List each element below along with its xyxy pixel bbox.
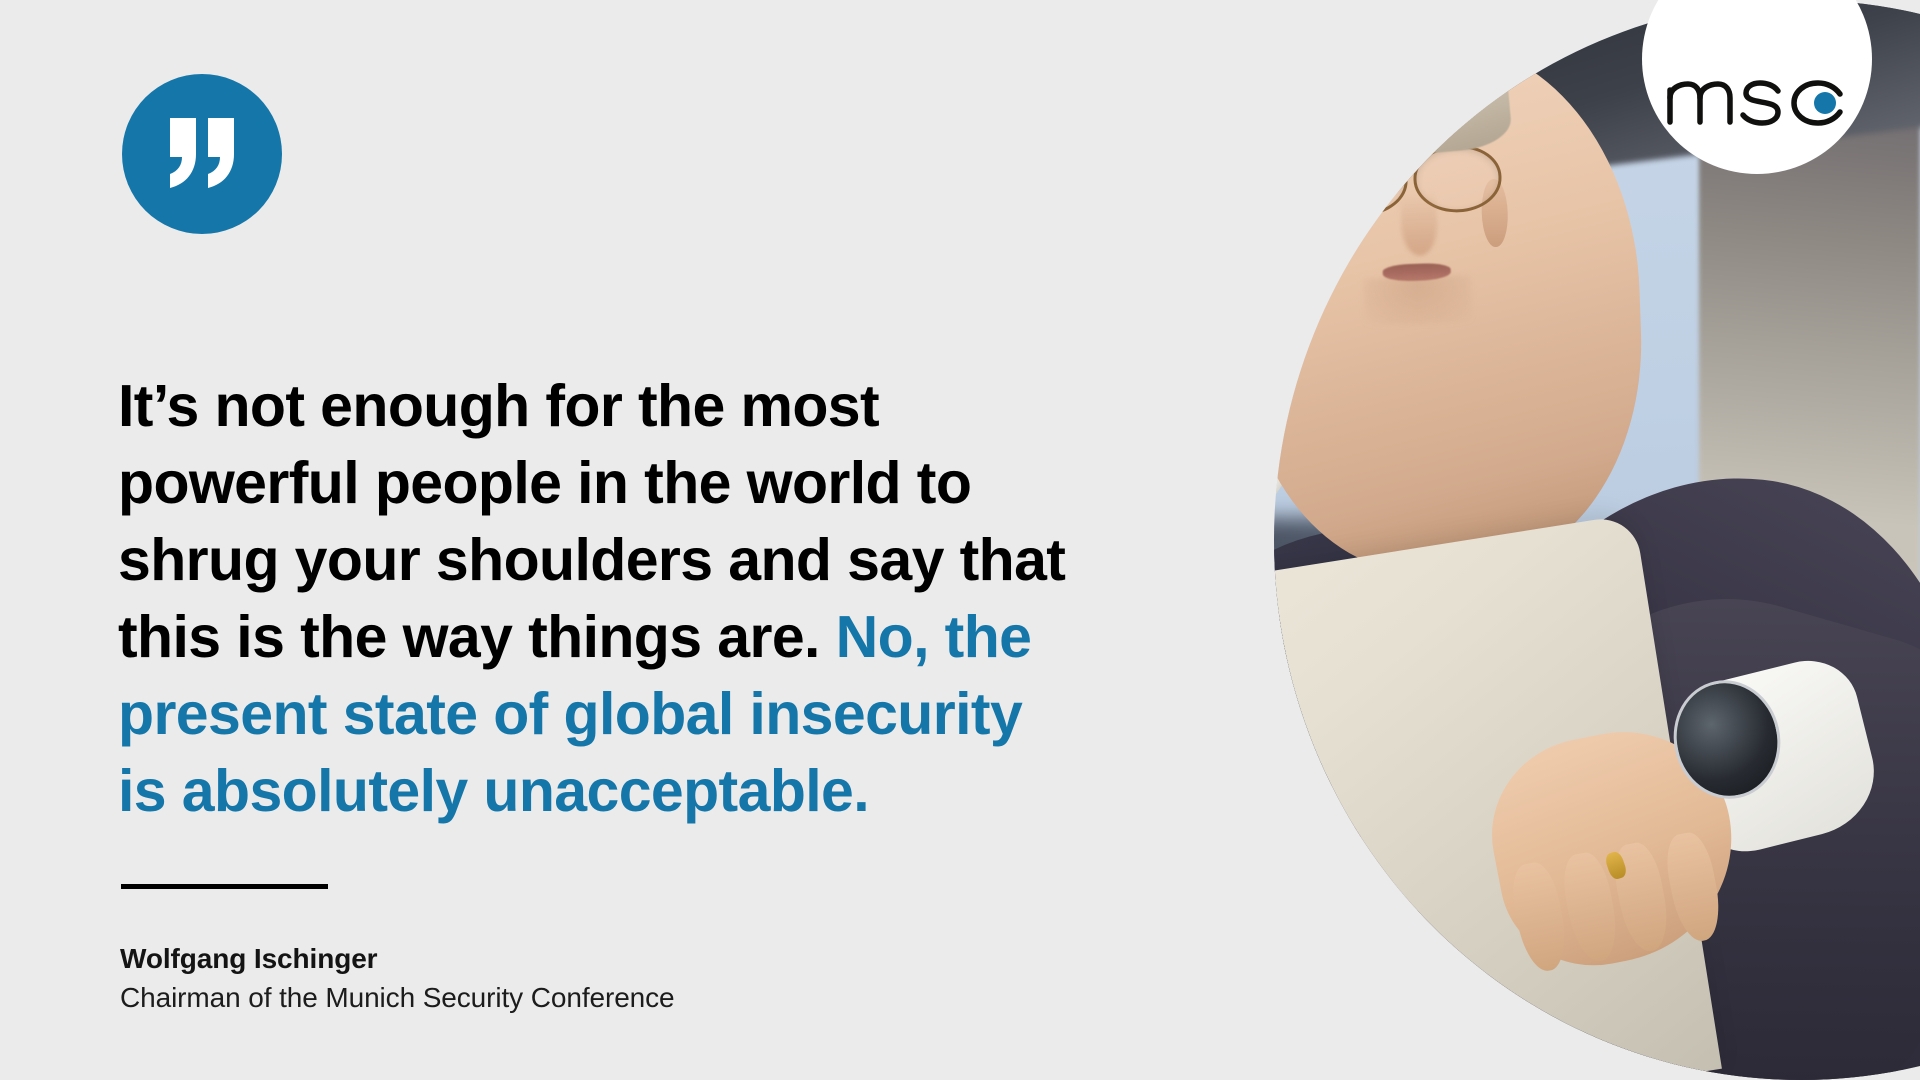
quote-card: It’s not enough for the most powerful pe…	[0, 0, 1920, 1080]
microphone-stem	[1091, 393, 1249, 687]
msc-dot-icon	[1814, 92, 1836, 114]
nose	[1400, 191, 1438, 256]
hair	[1300, 36, 1513, 164]
eyebrow-left	[1330, 133, 1387, 151]
speaker-role: Chairman of the Munich Security Conferen…	[120, 978, 1020, 1018]
microphone-head	[1085, 632, 1191, 686]
attribution-divider	[121, 884, 328, 889]
chin-shadow	[1363, 275, 1472, 326]
eyeglass-lens-left	[1318, 147, 1408, 217]
ear-left	[1309, 184, 1337, 254]
attribution: Wolfgang Ischinger Chairman of the Munic…	[120, 940, 1020, 1018]
eyeglass-bridge	[1401, 160, 1419, 164]
quote-text: It’s not enough for the most powerful pe…	[118, 368, 1078, 830]
quotation-mark-icon	[122, 74, 282, 234]
quote-panel: It’s not enough for the most powerful pe…	[0, 0, 1120, 1080]
speaker-name: Wolfgang Ischinger	[120, 940, 1020, 978]
